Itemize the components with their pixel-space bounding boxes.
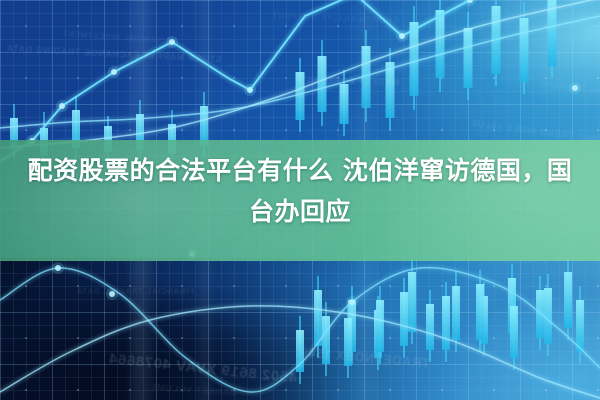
watermark-text: BUSINESS GRAPH bbox=[540, 81, 600, 97]
headline-line-1: 配资股票的合法平台有什么 沈伯洋窜访德国，国 bbox=[14, 150, 586, 191]
watermark-text: TRADE INDEX 1549 bbox=[300, 344, 431, 370]
page-title: 配资股票的合法平台有什么 沈伯洋窜访德国，国 台办回应 bbox=[0, 150, 600, 232]
watermark-text: MARKET FORECAST bbox=[300, 74, 400, 87]
watermark-text: MARKET VOLUME bbox=[150, 382, 238, 398]
watermark-text: FINANCIAL INVESTMENT bbox=[62, 29, 171, 46]
headline-line-2: 台办回应 bbox=[14, 191, 586, 232]
cover-image-canvas: STOCK MARKET EXCHANGE TRADING DATAFINANC… bbox=[0, 0, 600, 400]
watermark-text: STOCK MARKET EXCHANGE TRADING DATA bbox=[6, 43, 222, 64]
watermark-text: GROWTH ANALYSIS REPORT bbox=[272, 12, 399, 25]
watermark-text: FINANCIAL TRADING DATA bbox=[76, 287, 194, 296]
watermark-text: 4502 8619 XVAV 4078664 bbox=[108, 350, 298, 387]
